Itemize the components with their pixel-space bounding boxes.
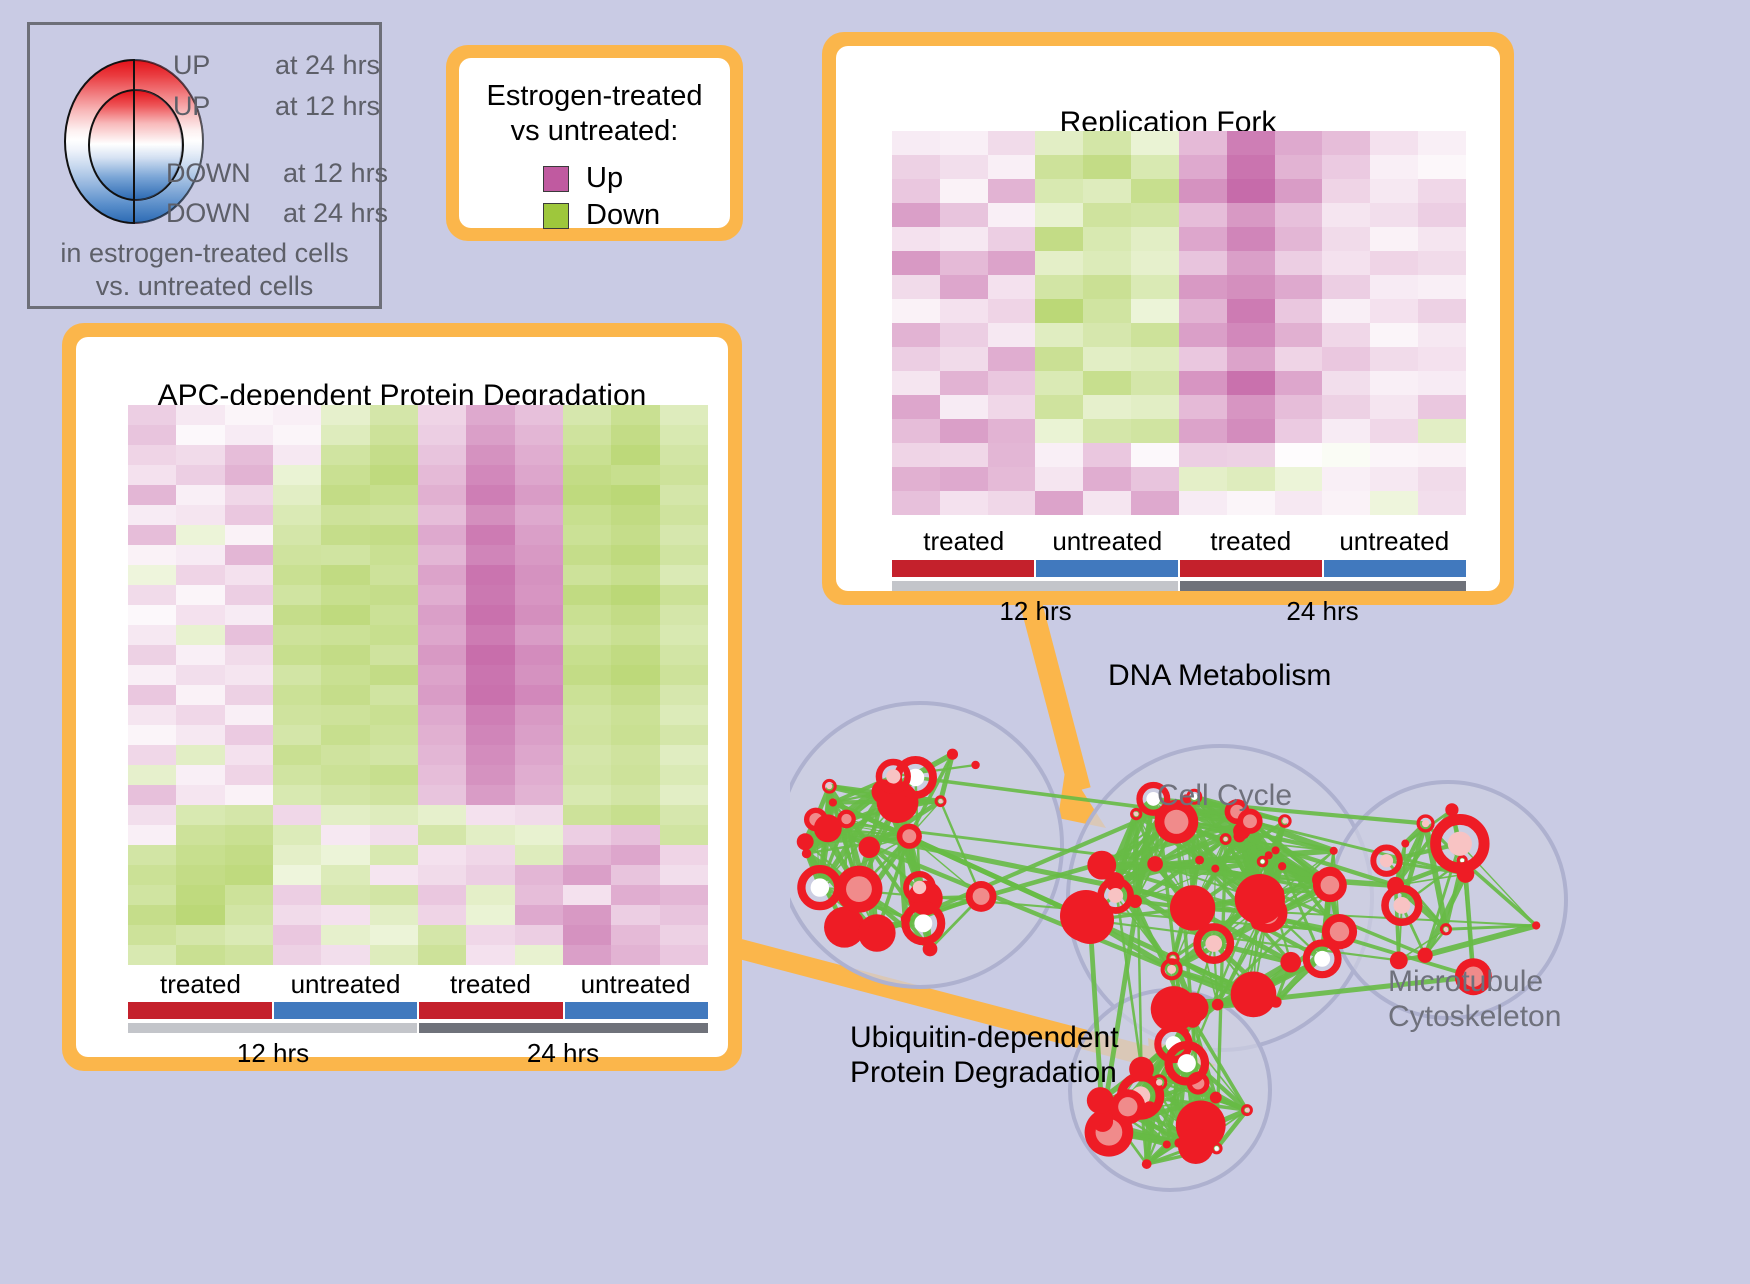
heatmap-cell	[176, 545, 224, 565]
heatmap-cell	[660, 505, 708, 525]
heatmap-cell	[563, 945, 611, 965]
heatmap-cell	[563, 645, 611, 665]
network-node[interactable]	[1212, 999, 1224, 1011]
heatmap-cell	[611, 945, 659, 965]
heatmap-cell	[321, 545, 369, 565]
heatmap-cell	[418, 785, 466, 805]
network-node[interactable]	[1142, 1159, 1152, 1169]
wheel-time-down-12: at 12 hrs	[283, 158, 388, 189]
heatmap-cell	[1131, 131, 1179, 155]
network-node-core	[1321, 876, 1340, 895]
heatmap-cell	[273, 805, 321, 825]
heatmap-cell	[563, 625, 611, 645]
heatmap-cell	[466, 445, 514, 465]
network-node[interactable]	[1210, 1092, 1222, 1104]
heatmap-cell	[988, 395, 1036, 419]
heatmap-cell	[1035, 443, 1083, 467]
heatmap-cell	[1418, 227, 1466, 251]
heatmap-cell	[1322, 323, 1370, 347]
heatmap-cell	[1227, 299, 1275, 323]
heatmap-cell	[892, 155, 940, 179]
heatmap-cell	[273, 925, 321, 945]
heatmap-cell	[225, 905, 273, 925]
heatmap-cell	[1322, 443, 1370, 467]
heatmap-cell	[466, 925, 514, 945]
heatmap-cell	[225, 865, 273, 885]
network-node[interactable]	[859, 837, 880, 858]
heatmap-cell	[1227, 155, 1275, 179]
heatmap-cell	[176, 885, 224, 905]
updown-legend-inner: Estrogen-treated vs untreated: Up Down	[459, 58, 730, 228]
heatmap-cell	[988, 419, 1036, 443]
heatmap-cell	[611, 485, 659, 505]
heatmap-cell	[988, 443, 1036, 467]
heatmap-cell	[273, 525, 321, 545]
heatmap-cell	[176, 645, 224, 665]
heatmap-cell	[515, 445, 563, 465]
network-node[interactable]	[1231, 972, 1277, 1018]
network-node[interactable]	[1272, 846, 1280, 854]
heatmap-cell	[892, 179, 940, 203]
network-node[interactable]	[1099, 1124, 1107, 1132]
network-node-core	[886, 769, 900, 783]
heatmap-cell	[176, 925, 224, 945]
heatmap-cell	[128, 445, 176, 465]
heatmap-cell	[370, 485, 418, 505]
network-node-core	[1134, 812, 1139, 817]
heatmap-cell	[128, 945, 176, 965]
heatmap-cell	[515, 945, 563, 965]
heatmap-cell	[515, 825, 563, 845]
heatmap-cell	[1418, 203, 1466, 227]
heatmap-cell	[563, 445, 611, 465]
network-node[interactable]	[1185, 1011, 1201, 1027]
network-node[interactable]	[1195, 856, 1204, 865]
heatmap-cell	[940, 467, 988, 491]
network-node[interactable]	[1532, 921, 1540, 929]
heatmap-cell	[370, 625, 418, 645]
heatmap-cell	[128, 665, 176, 685]
heatmap-cell	[128, 905, 176, 925]
heatmap-cell	[660, 645, 708, 665]
heatmap-cell	[370, 805, 418, 825]
heatmap-cell	[1322, 347, 1370, 371]
heatmap-cell	[1131, 155, 1179, 179]
heatmap-cell	[988, 131, 1036, 155]
network-node[interactable]	[1401, 840, 1409, 848]
network-node-core	[1422, 820, 1429, 827]
heatmap-cell	[418, 645, 466, 665]
heatmap-cell	[273, 885, 321, 905]
network-node[interactable]	[797, 833, 814, 850]
heatmap-cell	[466, 625, 514, 645]
network-node[interactable]	[1170, 885, 1215, 930]
heatmap-cell	[563, 845, 611, 865]
heatmap-cell	[988, 203, 1036, 227]
heatmap-cell	[466, 945, 514, 965]
heatmap-cell	[563, 825, 611, 845]
network-node-core	[1108, 888, 1123, 903]
network-node[interactable]	[829, 798, 837, 806]
heatmap-cell	[370, 945, 418, 965]
network-node[interactable]	[1147, 856, 1163, 872]
heatmap-cell	[225, 485, 273, 505]
heatmap-cell	[940, 443, 988, 467]
heatmap-cell	[128, 405, 176, 425]
heatmap-cell	[370, 505, 418, 525]
network-node[interactable]	[1278, 862, 1286, 870]
network-node-core	[1167, 965, 1176, 974]
network-node[interactable]	[814, 814, 842, 842]
heatmap-cell	[1370, 275, 1418, 299]
network-node[interactable]	[1129, 1057, 1154, 1082]
heatmap-cell	[1370, 395, 1418, 419]
heatmap-cell	[128, 685, 176, 705]
heatmap-cell	[1322, 395, 1370, 419]
network-node[interactable]	[1235, 874, 1285, 924]
heatmap-cell	[1370, 299, 1418, 323]
heatmap-cell	[1035, 347, 1083, 371]
heatmap-cell	[611, 645, 659, 665]
updown-legend-card: Estrogen-treated vs untreated: Up Down	[446, 45, 743, 241]
heatmap-cell	[563, 545, 611, 565]
heatmap-cell	[660, 405, 708, 425]
heatmap-cell	[1131, 395, 1179, 419]
heatmap-cell	[1370, 443, 1418, 467]
heatmap-cell	[660, 585, 708, 605]
heatmap-cell	[418, 745, 466, 765]
heatmap-cell	[128, 545, 176, 565]
heatmap-cell	[892, 251, 940, 275]
heatmap-cell	[418, 525, 466, 545]
heatmap-cell	[1083, 491, 1131, 515]
heatmap-cell	[1370, 419, 1418, 443]
apc-timepoint-bar	[128, 1023, 708, 1033]
heatmap-cell	[418, 845, 466, 865]
heatmap-cell	[1275, 227, 1323, 251]
heatmap-cell	[418, 805, 466, 825]
heatmap-cell	[1418, 323, 1466, 347]
heatmap-cell	[515, 805, 563, 825]
network-node-core	[1156, 1079, 1163, 1086]
heatmap-cell	[1035, 179, 1083, 203]
heatmap-cell	[563, 785, 611, 805]
heatmap-cell	[1083, 299, 1131, 323]
network-node[interactable]	[971, 761, 979, 769]
heatmap-cell	[1083, 395, 1131, 419]
heatmap-cell	[176, 825, 224, 845]
network-node[interactable]	[1280, 952, 1301, 973]
network-node[interactable]	[1211, 865, 1219, 873]
heatmap-cell	[563, 905, 611, 925]
heatmap-cell	[418, 585, 466, 605]
heatmap-cell	[563, 685, 611, 705]
heatmap-cell	[466, 565, 514, 585]
heatmap-cell	[176, 565, 224, 585]
heatmap-cell	[1083, 251, 1131, 275]
heatmap-cell	[1035, 371, 1083, 395]
heatmap-cell	[321, 865, 369, 885]
heatmap-cell	[418, 445, 466, 465]
heatmap-cell	[1083, 347, 1131, 371]
heatmap-cell	[321, 405, 369, 425]
heatmap-cell	[515, 905, 563, 925]
heatmap-cell	[1275, 395, 1323, 419]
heatmap-cell	[940, 491, 988, 515]
treatment-bar-segment	[563, 1002, 709, 1019]
heatmap-cell	[1179, 491, 1227, 515]
network-node-core	[1444, 927, 1449, 932]
heatmap-cell	[273, 825, 321, 845]
network-node[interactable]	[1163, 1140, 1171, 1148]
heatmap-cell	[611, 445, 659, 465]
heatmap-cell	[515, 645, 563, 665]
network-node-core	[913, 881, 926, 894]
rf-timepoint-bar	[892, 581, 1466, 591]
network-node[interactable]	[802, 849, 812, 859]
heatmap-cell	[1370, 467, 1418, 491]
heatmap-cell	[563, 765, 611, 785]
heatmap-cell	[128, 825, 176, 845]
network-node[interactable]	[1178, 1128, 1214, 1164]
heatmap-cell	[563, 885, 611, 905]
heatmap-cell	[1083, 371, 1131, 395]
heatmap-cell	[225, 425, 273, 445]
heatmap-cell	[321, 665, 369, 685]
heatmap-cell	[660, 905, 708, 925]
heatmap-cell	[466, 685, 514, 705]
heatmap-cell	[1179, 275, 1227, 299]
network-node-core	[1330, 922, 1349, 941]
network-node-core	[1380, 854, 1393, 867]
heatmap-cell	[1227, 419, 1275, 443]
heatmap-cell	[660, 665, 708, 685]
timepoint-bar-segment	[417, 1023, 708, 1033]
heatmap-cell	[418, 625, 466, 645]
heatmap-cell	[128, 845, 176, 865]
heatmap-cell	[128, 705, 176, 725]
network-node[interactable]	[1066, 896, 1114, 944]
heatmap-cell	[1322, 131, 1370, 155]
heatmap-cell	[273, 445, 321, 465]
heatmap-cell	[1322, 275, 1370, 299]
panel-apc-degradation-inner: APC-dependent Protein Degradation treate…	[76, 337, 728, 1057]
heatmap-cell	[892, 467, 940, 491]
heatmap-cell	[128, 885, 176, 905]
heatmap-cell	[128, 505, 176, 525]
heatmap-cell	[988, 179, 1036, 203]
heatmap-cell	[418, 685, 466, 705]
heatmap-cell	[1322, 179, 1370, 203]
heatmap-cell	[1083, 275, 1131, 299]
network-node[interactable]	[1181, 1028, 1189, 1036]
treatment-bar-segment	[1322, 560, 1466, 577]
heatmap-cell	[418, 765, 466, 785]
heatmap-cell	[611, 525, 659, 545]
heatmap-cell	[273, 665, 321, 685]
updown-legend-title-line1: Estrogen-treated	[459, 79, 730, 114]
heatmap-cell	[1322, 467, 1370, 491]
heatmap-cell	[988, 155, 1036, 179]
heatmap-cell	[273, 505, 321, 525]
heatmap-cell	[611, 585, 659, 605]
heatmap-cell	[1035, 467, 1083, 491]
heatmap-cell	[660, 845, 708, 865]
heatmap-cell	[563, 865, 611, 885]
heatmap-cell	[1083, 155, 1131, 179]
heatmap-cell	[1131, 251, 1179, 275]
panel-replication-fork: Replication Fork treateduntreatedtreated…	[822, 32, 1514, 605]
heatmap-cell	[128, 525, 176, 545]
heatmap-cell	[225, 705, 273, 725]
heatmap-cell	[176, 745, 224, 765]
heatmap-cell	[611, 745, 659, 765]
heatmap-cell	[370, 765, 418, 785]
heatmap-cell	[418, 505, 466, 525]
wheel-time-up-12: at 12 hrs	[275, 91, 380, 122]
heatmap-cell	[515, 485, 563, 505]
heatmap-cell	[176, 605, 224, 625]
heatmap-cell	[128, 565, 176, 585]
axis-group-label: treated	[418, 969, 563, 1000]
heatmap-cell	[176, 445, 224, 465]
heatmap-cell	[321, 685, 369, 705]
heatmap-cell	[466, 485, 514, 505]
wheel-time-down-24: at 24 hrs	[283, 198, 388, 229]
heatmap-cell	[225, 565, 273, 585]
heatmap-cell	[1275, 443, 1323, 467]
heatmap-cell	[1322, 299, 1370, 323]
treatment-bar-segment	[272, 1002, 418, 1019]
heatmap-cell	[1418, 467, 1466, 491]
heatmap-cell	[1275, 347, 1323, 371]
heatmap-cell	[273, 845, 321, 865]
heatmap-apc-degradation	[128, 405, 708, 965]
heatmap-cell	[466, 845, 514, 865]
heatmap-cell	[1227, 467, 1275, 491]
heatmap-cell	[1179, 227, 1227, 251]
heatmap-cell	[176, 525, 224, 545]
heatmap-cell	[940, 299, 988, 323]
heatmap-cell	[515, 625, 563, 645]
heatmap-cell	[128, 625, 176, 645]
heatmap-cell	[515, 605, 563, 625]
heatmap-cell	[370, 785, 418, 805]
heatmap-cell	[660, 625, 708, 645]
heatmap-cell	[1418, 347, 1466, 371]
cluster-label-dna-metabolism: DNA Metabolism	[1108, 658, 1331, 693]
pathway-network-diagram: DNA Metabolism Cell Cycle Microtubule Cy…	[790, 620, 1750, 1279]
heatmap-cell	[940, 251, 988, 275]
heatmap-cell	[611, 565, 659, 585]
network-node-core	[1118, 1097, 1137, 1116]
heatmap-cell	[321, 445, 369, 465]
legend-item-up: Up	[543, 160, 660, 197]
network-node-core	[811, 878, 829, 896]
heatmap-cell	[1179, 443, 1227, 467]
heatmap-cell	[1322, 203, 1370, 227]
heatmap-cell	[321, 725, 369, 745]
heatmap-cell	[128, 925, 176, 945]
heatmap-cell	[1418, 155, 1466, 179]
heatmap-cell	[176, 425, 224, 445]
treatment-bar-segment	[1178, 560, 1322, 577]
network-node[interactable]	[1330, 847, 1338, 855]
heatmap-cell	[128, 425, 176, 445]
heatmap-cell	[176, 625, 224, 645]
heatmap-cell	[515, 685, 563, 705]
heatmap-cell	[225, 725, 273, 745]
heatmap-cell	[660, 885, 708, 905]
heatmap-cell	[176, 665, 224, 685]
heatmap-cell	[1131, 491, 1179, 515]
network-node[interactable]	[923, 942, 938, 957]
heatmap-cell	[515, 705, 563, 725]
heatmap-cell	[1083, 203, 1131, 227]
heatmap-cell	[1179, 203, 1227, 227]
network-node[interactable]	[1387, 877, 1404, 894]
down-swatch-icon	[543, 203, 569, 229]
axis-group-label: treated	[1179, 526, 1323, 557]
heatmap-cell	[418, 885, 466, 905]
axis-group-label: untreated	[563, 969, 708, 1000]
heatmap-cell	[563, 725, 611, 745]
heatmap-cell	[563, 565, 611, 585]
heatmap-cell	[563, 505, 611, 525]
heatmap-cell	[1083, 179, 1131, 203]
heatmap-cell	[940, 155, 988, 179]
timepoint-bar-segment	[128, 1023, 417, 1033]
heatmap-cell	[225, 805, 273, 825]
heatmap-cell	[321, 625, 369, 645]
heatmap-cell	[225, 645, 273, 665]
heatmap-cell	[321, 645, 369, 665]
network-node[interactable]	[947, 749, 958, 760]
heatmap-cell	[370, 925, 418, 945]
heatmap-cell	[1227, 131, 1275, 155]
heatmap-cell	[1179, 323, 1227, 347]
heatmap-cell	[176, 705, 224, 725]
heatmap-cell	[225, 665, 273, 685]
heatmap-cell	[128, 605, 176, 625]
network-node[interactable]	[1445, 803, 1458, 816]
network-node[interactable]	[1087, 1087, 1114, 1114]
heatmap-cell	[515, 845, 563, 865]
treatment-bar-segment	[892, 560, 1034, 577]
network-node-core	[826, 783, 832, 789]
network-node[interactable]	[824, 907, 865, 948]
heatmap-cell	[515, 505, 563, 525]
network-node-core	[1393, 897, 1410, 914]
heatmap-cell	[466, 665, 514, 685]
heatmap-cell	[611, 465, 659, 485]
heatmap-cell	[660, 445, 708, 465]
network-node[interactable]	[858, 914, 895, 951]
heatmap-cell	[1035, 155, 1083, 179]
heatmap-cell	[611, 425, 659, 445]
heatmap-cell	[225, 465, 273, 485]
network-node-core	[938, 799, 942, 803]
heatmap-cell	[466, 465, 514, 485]
heatmap-cell	[1370, 227, 1418, 251]
heatmap-cell	[1275, 131, 1323, 155]
heatmap-cell	[1370, 347, 1418, 371]
heatmap-cell	[321, 885, 369, 905]
network-node-core	[973, 888, 990, 905]
network-node[interactable]	[1418, 948, 1433, 963]
heatmap-cell	[1418, 419, 1466, 443]
heatmap-cell	[563, 585, 611, 605]
